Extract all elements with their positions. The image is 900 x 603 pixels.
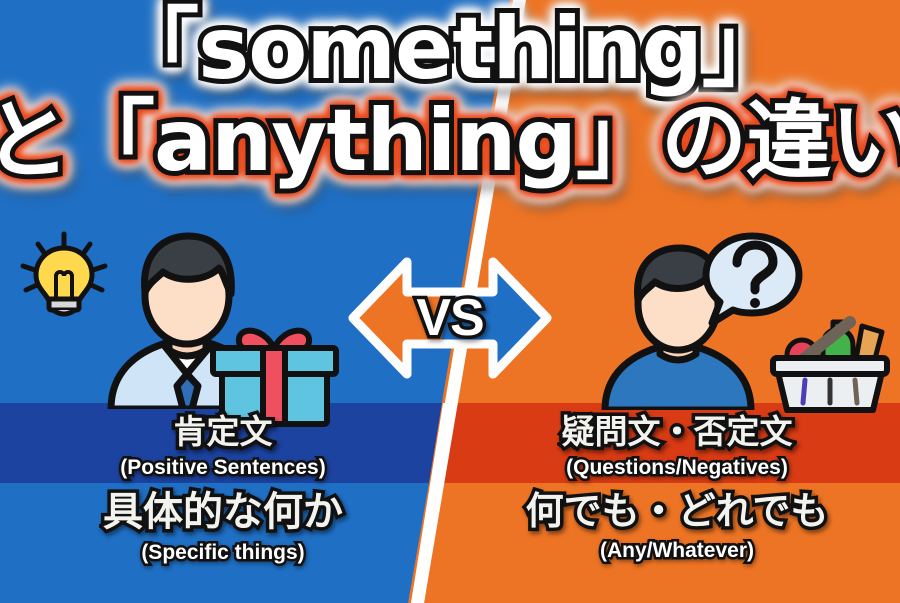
shopping-basket-icon xyxy=(770,300,890,420)
vs-label: VS xyxy=(345,248,555,388)
vs-badge: VS xyxy=(345,248,555,388)
thumbnail-canvas: VS 「something」 と「anything」の違い 肯定文 (Posit… xyxy=(0,0,900,603)
gift-box-icon xyxy=(207,318,342,433)
